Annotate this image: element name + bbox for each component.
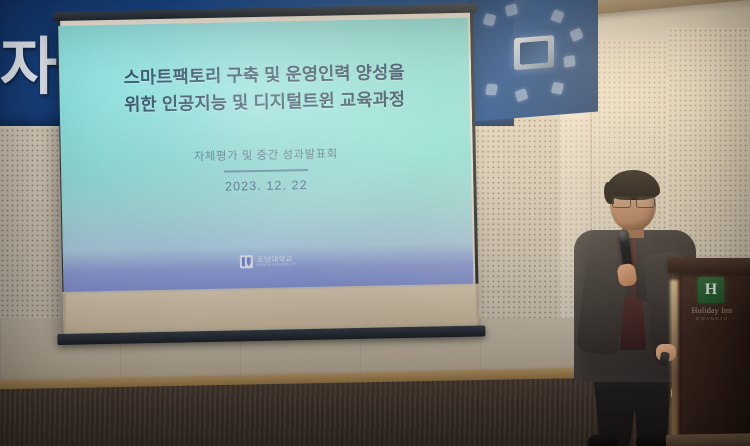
university-book-icon <box>240 255 253 268</box>
presenter-hand-holding-mic <box>616 263 637 288</box>
banner-headline-text: 자 <box>0 16 59 106</box>
slide-subtitle: 자체평가 및 중간 성과발표회 <box>61 143 471 167</box>
university-logo-text: 호남대학교 HONAM UNIVERSITY <box>257 255 296 267</box>
microchip-icon <box>514 35 554 70</box>
projection-screen: 스마트팩토리 구축 및 운영인력 양성을 위한 인공지능 및 디지털트윈 교육과… <box>57 10 479 336</box>
tech-node-icon <box>569 27 583 42</box>
holiday-inn-logo-letter: H <box>698 277 724 303</box>
tech-node-icon <box>483 13 497 26</box>
venue-brand-location: GWANGJU <box>680 316 744 321</box>
eyeglasses-icon <box>612 196 655 205</box>
holiday-inn-logo-icon: H <box>698 277 724 303</box>
acoustic-panel-left <box>0 128 60 324</box>
projected-slide: 스마트팩토리 구축 및 운영인력 양성을 위한 인공지능 및 디지털트윈 교육과… <box>58 18 473 294</box>
tech-node-icon <box>485 84 498 96</box>
backdrop-banner-right <box>468 0 598 122</box>
venue-brand-name: Holiday Inn <box>680 306 744 315</box>
presenter-shoe-left <box>587 433 618 446</box>
tech-node-icon <box>550 9 565 23</box>
tech-node-icon <box>505 3 518 17</box>
slide-title: 스마트팩토리 구축 및 운영인력 양성을 위한 인공지능 및 디지털트윈 교육과… <box>59 58 470 119</box>
lectern-podium: H Holiday Inn GWANGJU <box>672 258 750 446</box>
tech-node-icon <box>515 88 529 102</box>
university-name-english: HONAM UNIVERSITY <box>257 263 296 268</box>
slide-divider-rule <box>224 169 308 173</box>
slide-date: 2023. 12. 22 <box>61 175 471 197</box>
tech-node-icon <box>551 82 564 95</box>
presentation-room-photo: 자 스마트팩토리 구축 및 운영인력 양성을 위한 인공지능 및 디지털트윈 교… <box>0 0 750 446</box>
tech-node-icon <box>564 55 576 68</box>
podium-top-surface <box>668 258 750 273</box>
podium-base <box>666 433 750 446</box>
slide-footer-logo: 호남대학교 HONAM UNIVERSITY <box>63 251 473 272</box>
